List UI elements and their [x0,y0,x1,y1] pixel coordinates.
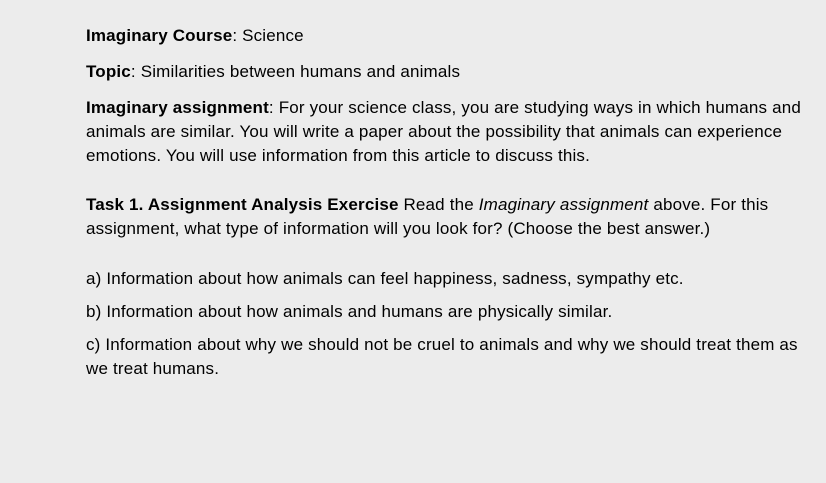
course-label: Imaginary Course [86,26,232,45]
course-separator: : [232,26,242,45]
list-item[interactable]: b) Information about how animals and hum… [86,300,810,324]
task-instruction-before: Read the [399,195,479,214]
topic-label: Topic [86,62,131,81]
course-line: Imaginary Course: Science [86,24,810,48]
assignment-separator: : [269,98,279,117]
list-item[interactable]: a) Information about how animals can fee… [86,267,810,291]
topic-line: Topic: Similarities between humans and a… [86,60,810,84]
worksheet-page: Imaginary Course: Science Topic: Similar… [0,0,826,483]
assignment-paragraph: Imaginary assignment: For your science c… [86,96,810,168]
task-instruction-italic-reference: Imaginary assignment [479,195,649,214]
topic-separator: : [131,62,141,81]
task-heading: Task 1. Assignment Analysis Exercise [86,195,399,214]
list-item[interactable]: c) Information about why we should not b… [86,333,810,381]
option-b-text: b) Information about how animals and hum… [86,302,612,321]
task-question-block: Task 1. Assignment Analysis Exercise Rea… [86,193,810,241]
answer-options-list: a) Information about how animals can fee… [86,267,810,381]
course-value: Science [242,26,304,45]
topic-value: Similarities between humans and animals [141,62,460,81]
assignment-label: Imaginary assignment [86,98,269,117]
option-a-text: a) Information about how animals can fee… [86,269,684,288]
option-c-text: c) Information about why we should not b… [86,335,798,378]
